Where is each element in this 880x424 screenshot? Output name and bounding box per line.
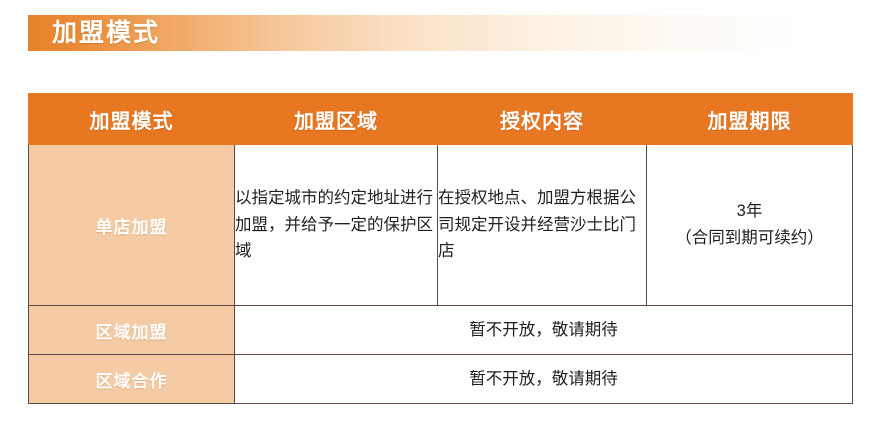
mode-label-single-store: 单店加盟 bbox=[29, 145, 235, 306]
cell-term-single-store: 3年 （合同到期可续约） bbox=[647, 145, 853, 306]
term-renewal-note: （合同到期可续约） bbox=[657, 225, 842, 252]
cell-status-regional-franchise: 暂不开放，敬请期待 bbox=[235, 306, 853, 355]
table-row: 区域合作 暂不开放，敬请期待 bbox=[29, 355, 853, 404]
page-root: 加盟模式 加盟模式 加盟区域 授权内容 加盟期限 单店加盟 bbox=[0, 0, 880, 424]
cell-status-regional-cooperation: 暂不开放，敬请期待 bbox=[235, 355, 853, 404]
term-duration: 3年 bbox=[657, 198, 842, 225]
column-header-area: 加盟区域 bbox=[235, 94, 438, 145]
column-header-authorization: 授权内容 bbox=[438, 94, 647, 145]
mode-label-regional-franchise: 区域加盟 bbox=[29, 306, 235, 355]
column-header-term: 加盟期限 bbox=[647, 94, 853, 145]
franchise-mode-table-wrap: 加盟模式 加盟区域 授权内容 加盟期限 单店加盟 以指定城市的约定地址进行加盟，… bbox=[28, 93, 852, 404]
franchise-mode-table: 加盟模式 加盟区域 授权内容 加盟期限 单店加盟 以指定城市的约定地址进行加盟，… bbox=[28, 93, 853, 404]
table-header-row: 加盟模式 加盟区域 授权内容 加盟期限 bbox=[29, 94, 853, 145]
table-row: 区域加盟 暂不开放，敬请期待 bbox=[29, 306, 853, 355]
page-title: 加盟模式 bbox=[52, 16, 160, 50]
table-row: 单店加盟 以指定城市的约定地址进行加盟，并给予一定的保护区域 在授权地点、加盟方… bbox=[29, 145, 853, 306]
mode-label-regional-cooperation: 区域合作 bbox=[29, 355, 235, 404]
cell-area-single-store: 以指定城市的约定地址进行加盟，并给予一定的保护区域 bbox=[235, 145, 438, 306]
cell-authorization-single-store: 在授权地点、加盟方根据公司规定开设并经营沙士比门店 bbox=[438, 145, 647, 306]
column-header-mode: 加盟模式 bbox=[29, 94, 235, 145]
